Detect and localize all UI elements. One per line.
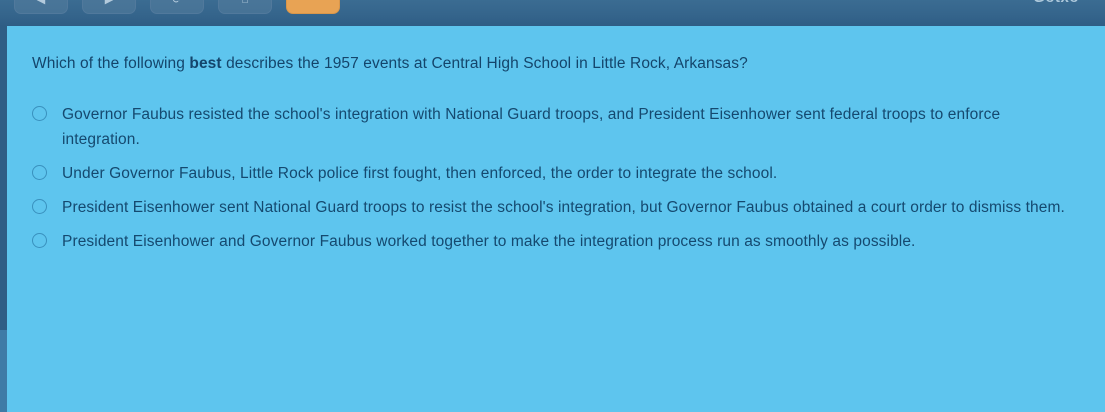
- answer-option-a[interactable]: Governor Faubus resisted the school's in…: [32, 102, 1087, 152]
- answer-option-d[interactable]: President Eisenhower and Governor Faubus…: [32, 229, 1087, 254]
- question-text-emphasis: best: [189, 55, 221, 72]
- radio-button-icon-c[interactable]: [32, 199, 47, 214]
- radio-button-icon-b[interactable]: [32, 165, 47, 180]
- left-edge-strip-lower: [0, 330, 7, 412]
- back-button[interactable]: ◀: [14, 0, 68, 14]
- question-prompt: Which of the following best describes th…: [32, 55, 1085, 73]
- reload-button[interactable]: ⟳: [150, 0, 204, 14]
- answer-option-c-label: President Eisenhower sent National Guard…: [62, 195, 1065, 220]
- answer-options-list: Governor Faubus resisted the school's in…: [32, 102, 1087, 264]
- answer-option-d-label: President Eisenhower and Governor Faubus…: [62, 229, 915, 254]
- home-icon: ⌂: [242, 0, 249, 6]
- answer-option-b[interactable]: Under Governor Faubus, Little Rock polic…: [32, 161, 1087, 186]
- reload-icon: ⟳: [172, 0, 181, 6]
- question-panel: Which of the following best describes th…: [7, 26, 1105, 412]
- home-button[interactable]: ⌂: [218, 0, 272, 14]
- answer-option-a-label: Governor Faubus resisted the school's in…: [62, 102, 1082, 152]
- forward-button[interactable]: ▶: [82, 0, 136, 14]
- chrome-button-group: ◀ ▶ ⟳ ⌂: [14, 0, 340, 14]
- highlighted-tab-button[interactable]: [286, 0, 340, 14]
- back-arrow-icon: ◀: [37, 0, 45, 6]
- radio-button-icon-a[interactable]: [32, 106, 47, 121]
- question-text-prefix: Which of the following: [32, 55, 189, 72]
- top-chrome-bar: ◀ ▶ ⟳ ⌂ Gotxo: [0, 0, 1105, 26]
- radio-button-icon-d[interactable]: [32, 233, 47, 248]
- question-text-suffix: describes the 1957 events at Central Hig…: [222, 55, 748, 72]
- top-right-brand-label: Gotxo: [1033, 0, 1079, 6]
- answer-option-c[interactable]: President Eisenhower sent National Guard…: [32, 195, 1087, 220]
- answer-option-b-label: Under Governor Faubus, Little Rock polic…: [62, 161, 777, 186]
- forward-arrow-icon: ▶: [105, 0, 113, 6]
